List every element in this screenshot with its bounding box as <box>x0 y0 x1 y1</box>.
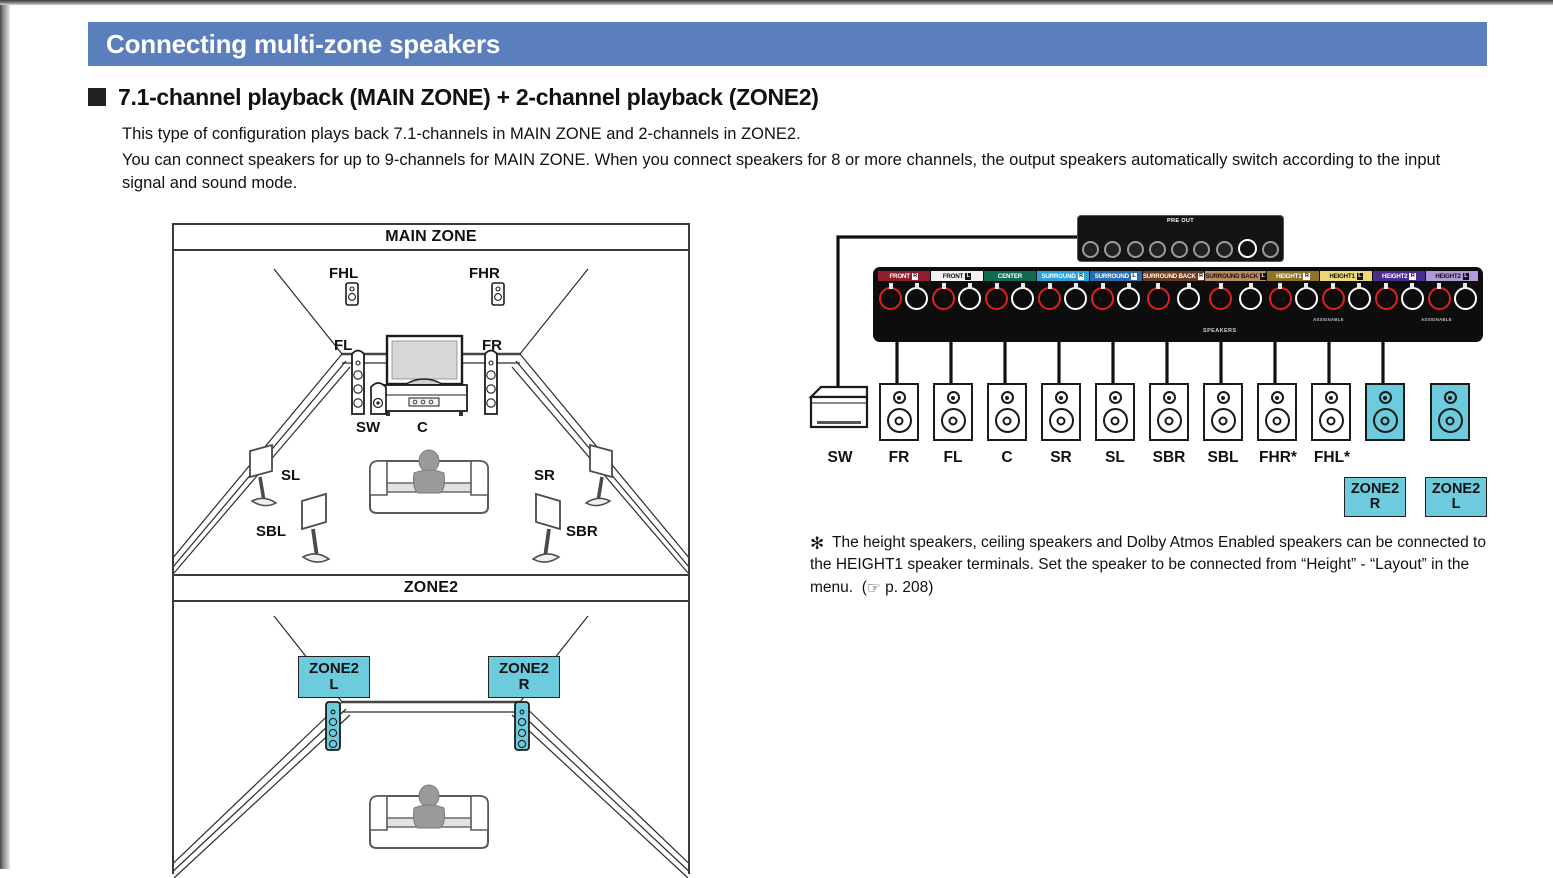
terminal-label-chip: HEIGHT2R <box>1373 271 1425 281</box>
conn-zone2-l-line2: L <box>1452 496 1461 512</box>
binding-post-negative[interactable] <box>1454 287 1477 310</box>
pointing-hand-icon: ☞ <box>867 578 881 600</box>
binding-post-negative[interactable] <box>1064 287 1087 310</box>
terminal-group-height1-l: HEIGHT1L <box>1320 271 1372 310</box>
terminal-group-height2-r: HEIGHT2R <box>1373 271 1425 310</box>
terminal-group-center: CENTER <box>984 271 1036 310</box>
binding-post-positive[interactable] <box>932 287 955 310</box>
pre-out-block: PRE OUT <box>1077 215 1284 262</box>
mainzone-room-svg <box>174 251 688 574</box>
binding-post-pair <box>1320 281 1372 310</box>
terminal-side-badge: L <box>1260 273 1266 280</box>
room-label-sbl: SBL <box>256 523 286 540</box>
preout-jack-subwoofer-1[interactable] <box>1238 239 1257 258</box>
room-label-fhr: FHR <box>469 265 500 282</box>
room-label-c: C <box>417 419 428 436</box>
zone2-room-svg <box>174 602 688 878</box>
preout-jack-center[interactable] <box>1127 241 1144 258</box>
conn-label-fhr: FHR* <box>1252 449 1304 467</box>
terminal-side-badge: L <box>1463 273 1469 280</box>
terminal-side-badge: L <box>965 273 971 280</box>
binding-post-negative[interactable] <box>1401 287 1424 310</box>
terminal-side-badge: R <box>1409 273 1416 280</box>
speaker-box-fr <box>879 383 919 441</box>
terminal-label-chip: HEIGHT2L <box>1426 271 1478 281</box>
intro-paragraph-2: You can connect speakers for up to 9-cha… <box>122 149 1442 195</box>
speaker-box-zone2-l <box>1430 383 1470 441</box>
speaker-box-sbr <box>1149 383 1189 441</box>
binding-post-positive[interactable] <box>1147 287 1170 310</box>
terminal-side-badge: R <box>1198 273 1205 280</box>
binding-post-positive[interactable] <box>1375 287 1398 310</box>
footnote-page-ref: p. 208 <box>885 579 928 596</box>
section-heading-text: 7.1-channel playback (MAIN ZONE) + 2-cha… <box>118 84 819 111</box>
binding-post-negative[interactable] <box>1239 287 1262 310</box>
assignable-caption-1: ASSIGNABLE <box>1313 317 1344 322</box>
room-label-sw: SW <box>356 419 380 436</box>
terminal-label-text: SURROUND BACK <box>1205 273 1258 280</box>
binding-post-positive[interactable] <box>1091 287 1114 310</box>
conn-label-fl: FL <box>930 449 976 467</box>
speaker-box-fhl <box>1311 383 1351 441</box>
fl-floorstanding-speaker <box>352 351 364 415</box>
room-label-fhl: FHL <box>329 265 358 282</box>
sr-stand-speaker <box>586 445 612 506</box>
speaker-box-c <box>987 383 1027 441</box>
preout-jack-height2[interactable] <box>1216 241 1233 258</box>
speaker-box-zone2-r <box>1365 383 1405 441</box>
binding-post-pair <box>984 281 1036 310</box>
terminal-label-chip: SURROUNDR <box>1037 271 1089 281</box>
assignable-caption-2: ASSIGNABLE <box>1421 317 1452 322</box>
document-page: Connecting multi-zone speakers 7.1-chann… <box>10 5 1553 869</box>
terminal-group-height1-r: HEIGHT1R <box>1267 271 1319 310</box>
conn-label-sbr: SBR <box>1146 449 1192 467</box>
sbl-stand-speaker <box>302 494 329 562</box>
terminal-label-chip: HEIGHT1R <box>1267 271 1319 281</box>
footnote-body: The height speakers, ceiling speakers an… <box>810 534 1486 596</box>
binding-post-positive[interactable] <box>1322 287 1345 310</box>
binding-post-pair <box>931 281 983 310</box>
terminal-label-text: CENTER <box>998 273 1022 280</box>
room-label-sbr: SBR <box>566 523 598 540</box>
zone2-right-line2: R <box>519 676 530 693</box>
binding-post-positive[interactable] <box>1038 287 1061 310</box>
intro-paragraph-1: This type of configuration plays back 7.… <box>122 123 1442 146</box>
terminal-group-front-l: FRONTL <box>931 271 983 310</box>
terminal-label-text: SURROUND <box>1095 273 1129 280</box>
terminal-label-text: HEIGHT1 <box>1276 273 1301 280</box>
binding-post-pair <box>1090 281 1142 310</box>
binding-post-pair <box>878 281 930 310</box>
terminal-group-front-r: FRONTR <box>878 271 930 310</box>
terminal-side-badge: R <box>1303 273 1310 280</box>
zone2-r-speaker <box>515 702 529 750</box>
listener-figure <box>414 450 445 493</box>
terminal-row: FRONTRFRONTLCENTERSURROUNDRSURROUNDLSURR… <box>878 271 1478 310</box>
preout-jack-subwoofer-2[interactable] <box>1262 241 1279 258</box>
conn-label-sl: SL <box>1092 449 1138 467</box>
binding-post-pair <box>1267 281 1319 310</box>
binding-post-negative[interactable] <box>1177 287 1200 310</box>
terminal-label-text: HEIGHT1 <box>1329 273 1354 280</box>
amplifier-speaker-terminal-panel: FRONTRFRONTLCENTERSURROUNDRSURROUNDLSURR… <box>873 267 1483 342</box>
mainzone-title-bar: MAIN ZONE <box>174 225 688 251</box>
room-label-fr: FR <box>482 337 502 354</box>
sl-stand-speaker <box>250 445 276 506</box>
terminal-label-chip: CENTER <box>984 271 1036 281</box>
terminal-label-text: SURROUND BACK <box>1143 273 1196 280</box>
terminal-label-chip: SURROUND BACKL <box>1205 271 1266 281</box>
zone2-title: ZONE2 <box>404 579 458 597</box>
television <box>382 336 467 416</box>
binding-post-pair <box>1205 281 1266 310</box>
square-bullet-icon <box>88 88 106 106</box>
preout-jack-front[interactable] <box>1104 241 1121 258</box>
conn-zone2-r-line2: R <box>1370 496 1380 512</box>
fhl-wall-speaker <box>346 283 358 305</box>
binding-post-negative[interactable] <box>1348 287 1371 310</box>
preout-jack-surround[interactable] <box>1149 241 1166 258</box>
terminal-label-chip: FRONTL <box>931 271 983 281</box>
speaker-box-fhr <box>1257 383 1297 441</box>
zone2-room-view: ZONE2 L ZONE2 R <box>174 602 688 878</box>
intro-text: This type of configuration plays back 7.… <box>122 123 1442 197</box>
mainzone-title: MAIN ZONE <box>385 228 477 246</box>
room-layout-figure: MAIN ZONE <box>172 223 690 874</box>
room-label-fl: FL <box>334 337 352 354</box>
terminal-label-text: HEIGHT2 <box>1435 273 1460 280</box>
binding-post-positive[interactable] <box>985 287 1008 310</box>
page-title-bar: Connecting multi-zone speakers <box>88 22 1487 66</box>
preout-jack-height1[interactable] <box>1193 241 1210 258</box>
zone2-title-bar: ZONE2 <box>174 576 688 602</box>
section-heading: 7.1-channel playback (MAIN ZONE) + 2-cha… <box>88 80 1487 114</box>
terminal-group-surround-back-r: SURROUND BACKR <box>1143 271 1204 310</box>
terminal-group-surround-l: SURROUNDL <box>1090 271 1142 310</box>
page-title: Connecting multi-zone speakers <box>88 29 500 60</box>
terminal-label-text: HEIGHT2 <box>1382 273 1407 280</box>
viewer-left-edge <box>0 5 10 869</box>
room-label-sr: SR <box>534 467 555 484</box>
zone2-left-line1: ZONE2 <box>309 660 359 677</box>
terminal-side-badge: R <box>1078 273 1085 280</box>
conn-zone2-r-line1: ZONE2 <box>1351 481 1399 497</box>
terminal-label-chip: SURROUNDL <box>1090 271 1142 281</box>
terminal-label-chip: SURROUND BACKR <box>1143 271 1204 281</box>
binding-post-positive[interactable] <box>879 287 902 310</box>
speaker-box-sbl <box>1203 383 1243 441</box>
zone2-left-line2: L <box>329 676 338 693</box>
footnote: ✻ The height speakers, ceiling speakers … <box>810 532 1490 599</box>
terminal-label-text: FRONT <box>943 273 963 280</box>
terminal-label-text: SURROUND <box>1041 273 1075 280</box>
conn-label-c: C <box>984 449 1030 467</box>
speaker-box-sr <box>1041 383 1081 441</box>
preout-jack-surround-back[interactable] <box>1171 241 1188 258</box>
zone2-label-left: ZONE2 L <box>298 656 370 698</box>
subwoofer-illustration <box>807 383 871 431</box>
subwoofer <box>371 383 386 414</box>
terminal-label-chip: FRONTR <box>878 271 930 281</box>
terminal-group-height2-l: HEIGHT2L <box>1426 271 1478 310</box>
terminal-group-surround-back-l: SURROUND BACKL <box>1205 271 1266 310</box>
conn-label-sr: SR <box>1038 449 1084 467</box>
binding-post-negative[interactable] <box>1011 287 1034 310</box>
conn-label-sbl: SBL <box>1200 449 1246 467</box>
terminal-label-chip: HEIGHT1L <box>1320 271 1372 281</box>
mainzone-room-view: FHL FHR FL FR SW C SL SR SBL SBR <box>174 251 688 576</box>
conn-label-fhl: FHL* <box>1306 449 1358 467</box>
binding-post-pair <box>1426 281 1478 310</box>
room-label-sl: SL <box>281 467 300 484</box>
terminal-side-badge: L <box>1357 273 1363 280</box>
zone2-listener-figure <box>414 785 445 828</box>
binding-post-pair <box>1143 281 1204 310</box>
binding-post-negative[interactable] <box>1295 287 1318 310</box>
zone2-l-speaker <box>326 702 340 750</box>
asterisk-marker: ✻ <box>810 532 824 557</box>
binding-post-pair <box>1373 281 1425 310</box>
fhr-wall-speaker <box>492 283 504 305</box>
terminal-label-text: FRONT <box>889 273 909 280</box>
binding-post-positive[interactable] <box>1209 287 1232 310</box>
terminal-group-surround-r: SURROUNDR <box>1037 271 1089 310</box>
conn-zone2-chip-l: ZONE2 L <box>1425 477 1487 517</box>
pre-out-caption: PRE OUT <box>1167 218 1194 224</box>
binding-post-negative[interactable] <box>905 287 928 310</box>
binding-post-negative[interactable] <box>1117 287 1140 310</box>
binding-post-pair <box>1037 281 1089 310</box>
terminal-side-badge: L <box>1131 273 1137 280</box>
binding-post-positive[interactable] <box>1428 287 1451 310</box>
conn-zone2-chip-r: ZONE2 R <box>1344 477 1406 517</box>
preout-jack-zone2[interactable] <box>1082 241 1099 258</box>
zone2-label-right: ZONE2 R <box>488 656 560 698</box>
conn-zone2-l-line1: ZONE2 <box>1432 481 1480 497</box>
speakers-caption: SPEAKERS <box>1203 328 1236 334</box>
sbr-stand-speaker <box>533 494 560 562</box>
zone2-right-line1: ZONE2 <box>499 660 549 677</box>
fr-floorstanding-speaker <box>485 351 497 415</box>
binding-post-positive[interactable] <box>1269 287 1292 310</box>
conn-label-sw: SW <box>817 449 863 467</box>
conn-label-fr: FR <box>876 449 922 467</box>
terminal-side-badge: R <box>912 273 919 280</box>
binding-post-negative[interactable] <box>958 287 981 310</box>
speaker-box-fl <box>933 383 973 441</box>
speaker-box-sl <box>1095 383 1135 441</box>
